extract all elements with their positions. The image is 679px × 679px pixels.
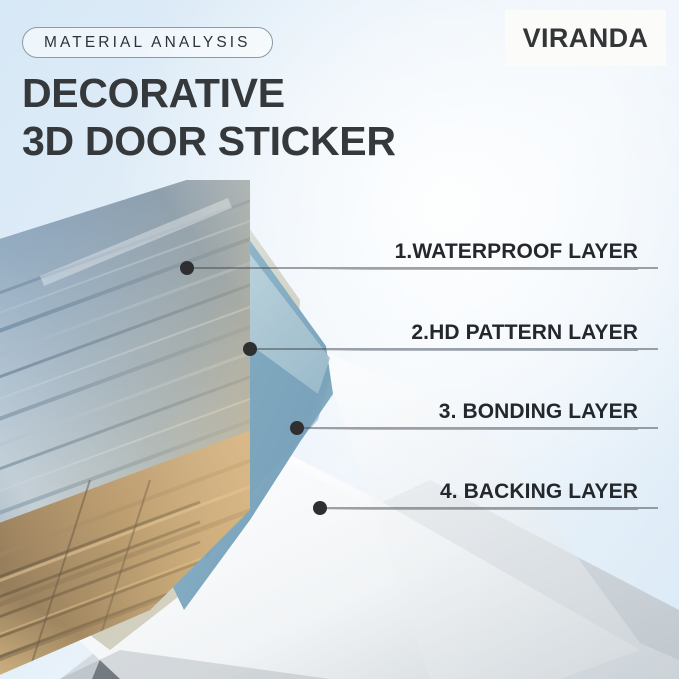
callout-layer-2-rule [308, 350, 638, 351]
callout-layer-1: 1.WATERPROOF LAYER [308, 241, 638, 270]
badge-label: MATERIAL ANALYSIS [44, 34, 251, 52]
callout-layer-3: 3. BONDING LAYER [308, 401, 638, 430]
material-analysis-badge: MATERIAL ANALYSIS [22, 27, 273, 58]
callout-layer-4: 4. BACKING LAYER [308, 481, 638, 510]
callout-layer-2-label: 2.HD PATTERN LAYER [308, 322, 638, 343]
poster-canvas: MATERIAL ANALYSIS DECORATIVE 3D DOOR STI… [0, 0, 679, 679]
callout-layer-3-rule [308, 429, 638, 430]
callout-layer-1-label: 1.WATERPROOF LAYER [308, 241, 638, 262]
callout-layer-2: 2.HD PATTERN LAYER [308, 322, 638, 351]
callout-layer-3-label: 3. BONDING LAYER [308, 401, 638, 422]
brand-logo: VIRANDA [505, 10, 666, 66]
callout-layer-4-rule [308, 509, 638, 510]
callout-layer-4-label: 4. BACKING LAYER [308, 481, 638, 502]
brand-logo-text: VIRANDA [523, 23, 649, 54]
page-title-line-2: 3D DOOR STICKER [22, 121, 396, 162]
page-title-line-1: DECORATIVE [22, 73, 285, 114]
callout-layer-1-rule [308, 269, 638, 270]
